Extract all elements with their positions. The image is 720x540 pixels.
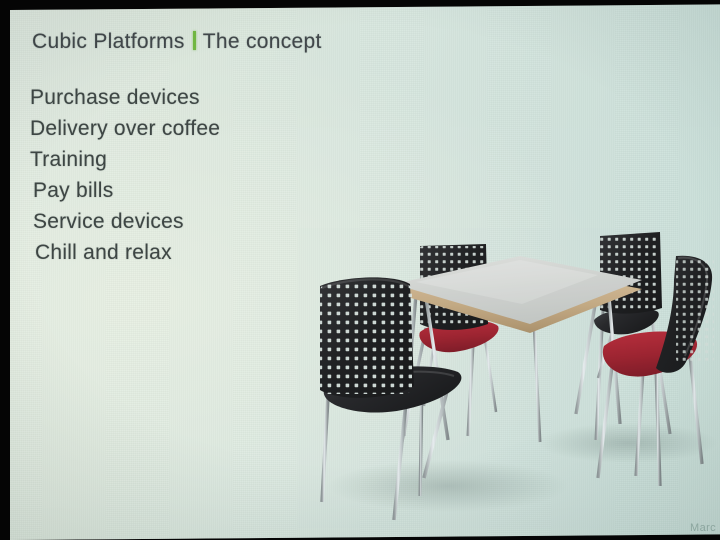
presentation-slide: Cubic Platforms The concept Purchase dev… (10, 4, 720, 540)
slide-bullet-list: Purchase devices Delivery over coffee Tr… (30, 82, 220, 268)
title-separator-bar (193, 31, 196, 50)
bullet-item-purchase-devices: Purchase devices (30, 82, 220, 113)
footer-note: Marc (690, 522, 720, 534)
title-primary-text: Cubic Platforms (32, 30, 185, 54)
table-and-chairs-photo (298, 228, 720, 528)
bullet-item-chill-and-relax: Chill and relax (30, 237, 220, 268)
bullet-item-pay-bills: Pay bills (30, 175, 220, 206)
bullet-item-delivery-over-coffee: Delivery over coffee (30, 113, 220, 144)
bullet-item-service-devices: Service devices (30, 206, 220, 237)
title-secondary-text: The concept (203, 30, 322, 54)
bullet-item-training: Training (30, 144, 220, 175)
projected-slide-photo-frame: Cubic Platforms The concept Purchase dev… (0, 0, 720, 540)
slide-content-area: Cubic Platforms The concept Purchase dev… (10, 10, 720, 540)
slide-title: Cubic Platforms The concept (32, 29, 322, 54)
